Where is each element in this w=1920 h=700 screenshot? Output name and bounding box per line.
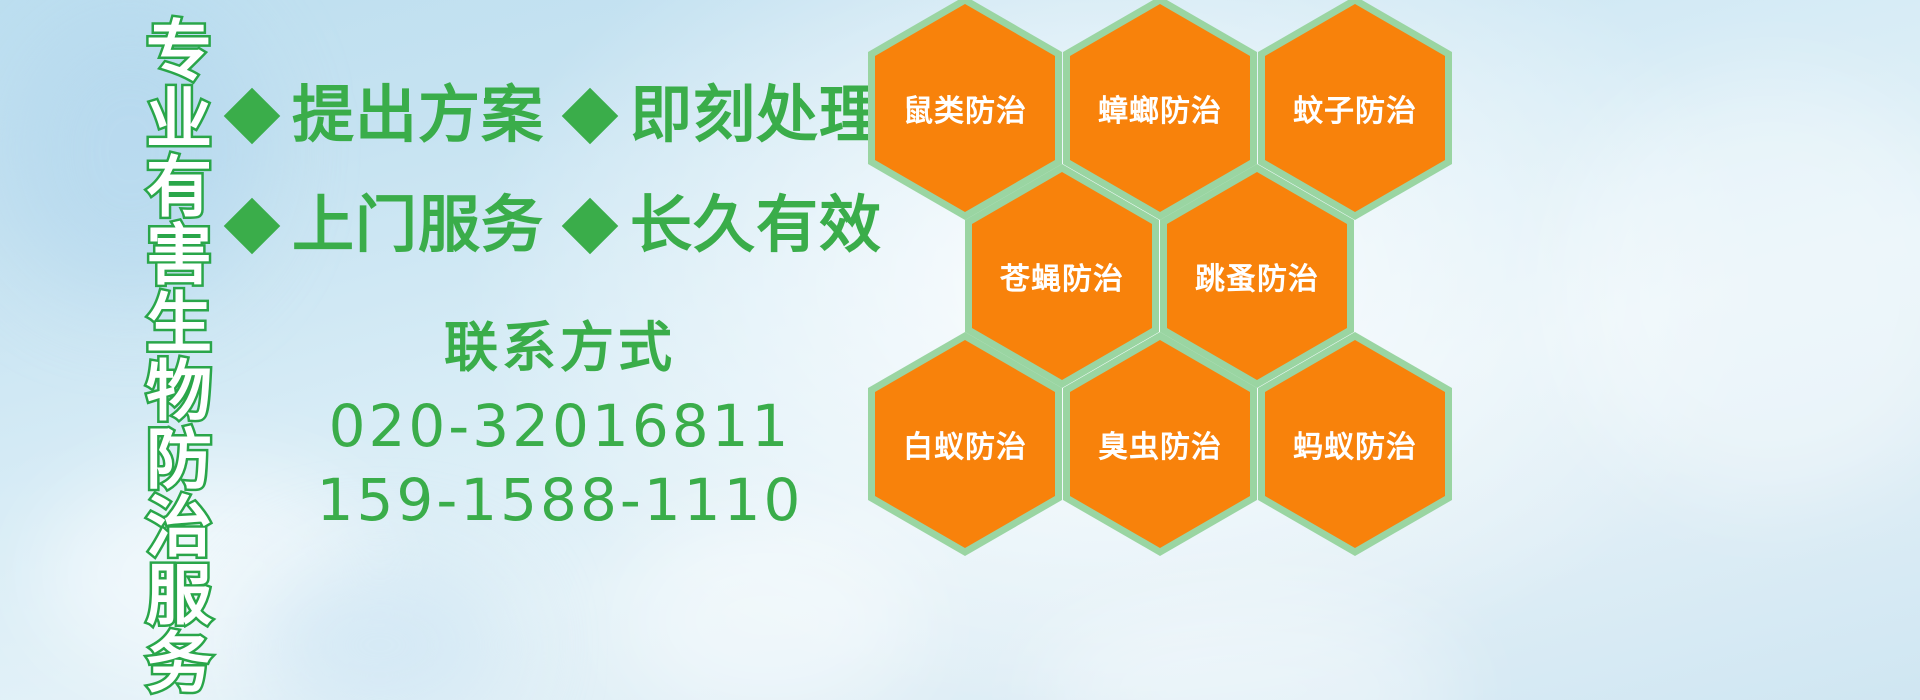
service-label: 蟑螂防治 <box>1098 86 1222 130</box>
feature-row-2: 上门服务 长久有效 <box>232 195 882 257</box>
feature-item-door-to-door-service: 上门服务 <box>232 195 570 257</box>
vertical-headline: 专业有害生物防治服务 <box>108 16 208 576</box>
feature-item-long-lasting-effect: 长久有效 <box>570 195 882 257</box>
service-label: 蚂蚁防治 <box>1293 422 1417 466</box>
diamond-icon <box>562 88 619 145</box>
service-label: 苍蝇防治 <box>1000 254 1124 298</box>
feature-item-propose-plan: 提出方案 <box>232 85 570 147</box>
contact-heading: 联系方式 <box>300 315 820 383</box>
service-label: 臭虫防治 <box>1098 422 1222 466</box>
feature-label: 上门服务 <box>292 195 544 257</box>
background-blob <box>1560 80 1920 500</box>
service-label: 跳蚤防治 <box>1195 254 1319 298</box>
diamond-icon <box>224 198 281 255</box>
feature-item-immediate-handling: 即刻处理 <box>570 85 882 147</box>
phone-mobile[interactable]: 159-1588-1110 <box>300 463 820 537</box>
service-label: 蚊子防治 <box>1293 86 1417 130</box>
feature-label: 长久有效 <box>630 195 882 257</box>
background-blob <box>250 560 510 700</box>
diamond-icon <box>562 198 619 255</box>
phone-landline[interactable]: 020-32016811 <box>300 389 820 463</box>
feature-row-1: 提出方案 即刻处理 <box>232 85 882 147</box>
contact-block: 联系方式 020-32016811 159-1588-1110 <box>300 315 820 537</box>
service-label: 白蚁防治 <box>903 422 1027 466</box>
service-label: 鼠类防治 <box>903 86 1027 130</box>
diamond-icon <box>224 88 281 145</box>
service-hexagon-grid: 鼠类防治 蟑螂防治 蚊子防治 苍蝇防治 跳蚤防治 白蚁防治 臭虫防治 蚂蚁防治 <box>860 0 1460 700</box>
feature-label: 提出方案 <box>292 85 544 147</box>
pest-control-banner: 专业有害生物防治服务 提出方案 即刻处理 上门服务 长久有效 联系方式 020-… <box>0 0 1920 700</box>
feature-label: 即刻处理 <box>630 85 882 147</box>
